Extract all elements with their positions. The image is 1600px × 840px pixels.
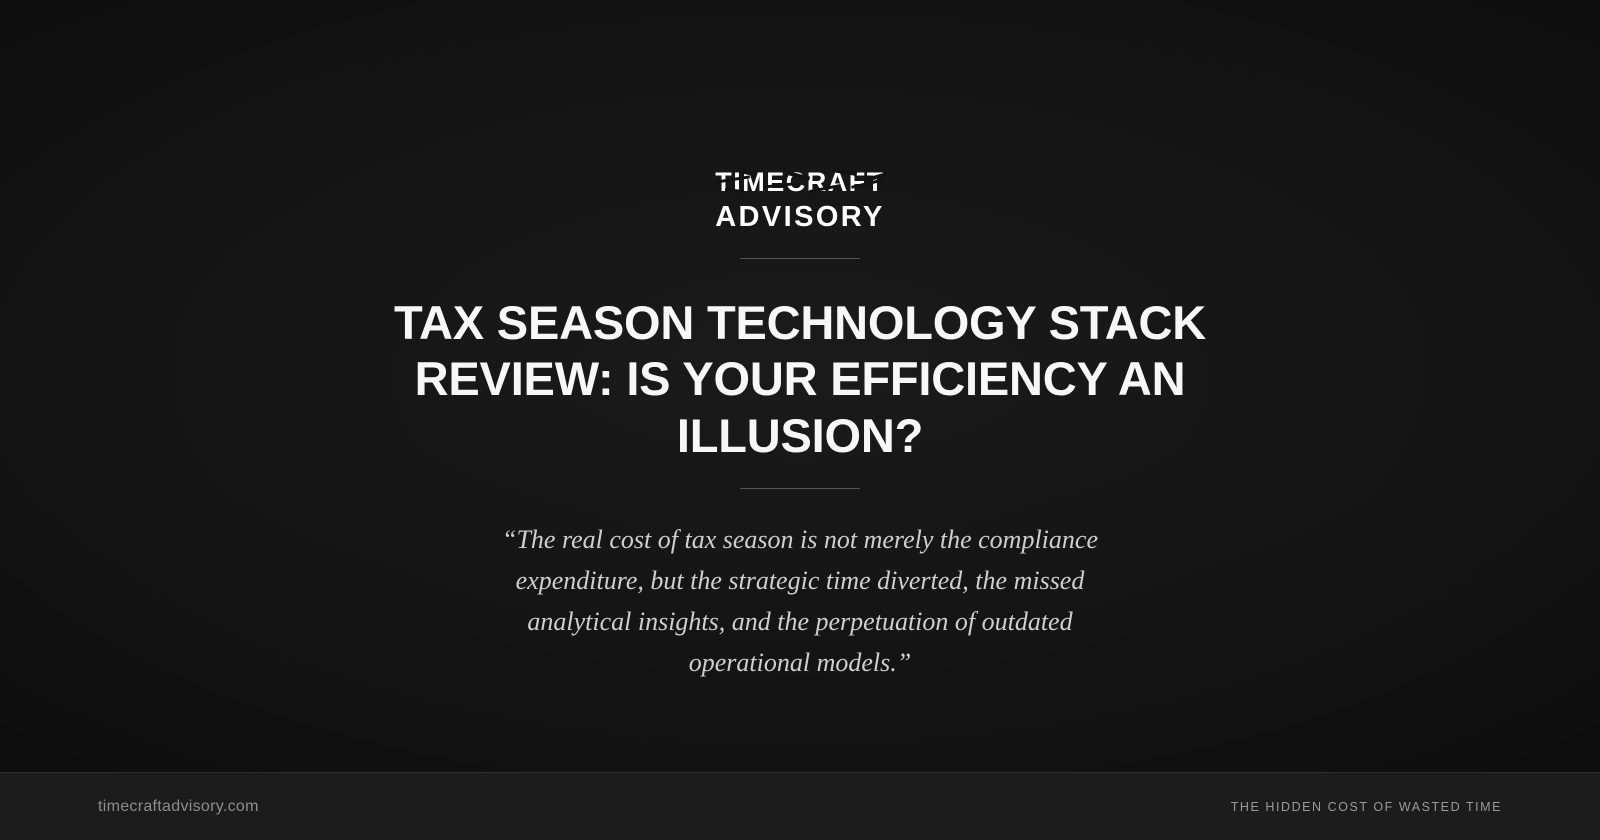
slide-footer: timecraftadvisory.com THE HIDDEN COST OF… — [0, 772, 1600, 840]
pull-quote: “The real cost of tax season is not mere… — [500, 519, 1100, 683]
page-title: TAX SEASON TECHNOLOGY STACK REVIEW: IS Y… — [295, 295, 1305, 464]
footer-tagline: THE HIDDEN COST OF WASTED TIME — [1231, 800, 1502, 814]
logo-wordmark-primary: TIMECRAFT — [715, 168, 884, 198]
divider-under-logo — [740, 258, 860, 259]
logo-text-advisory: ADVISORY — [715, 203, 885, 232]
brand-logo: TIMECRAFT ADVISORY — [715, 168, 885, 232]
divider-under-title — [740, 488, 860, 489]
slide-content: TIMECRAFT ADVISORY TAX SEASON TECHNOLOGY… — [0, 168, 1600, 683]
title-slide: TIMECRAFT ADVISORY TAX SEASON TECHNOLOGY… — [0, 0, 1600, 840]
logo-text-timecraft: TIMECRAFT — [715, 167, 884, 197]
footer-website: timecraftadvisory.com — [98, 798, 259, 816]
